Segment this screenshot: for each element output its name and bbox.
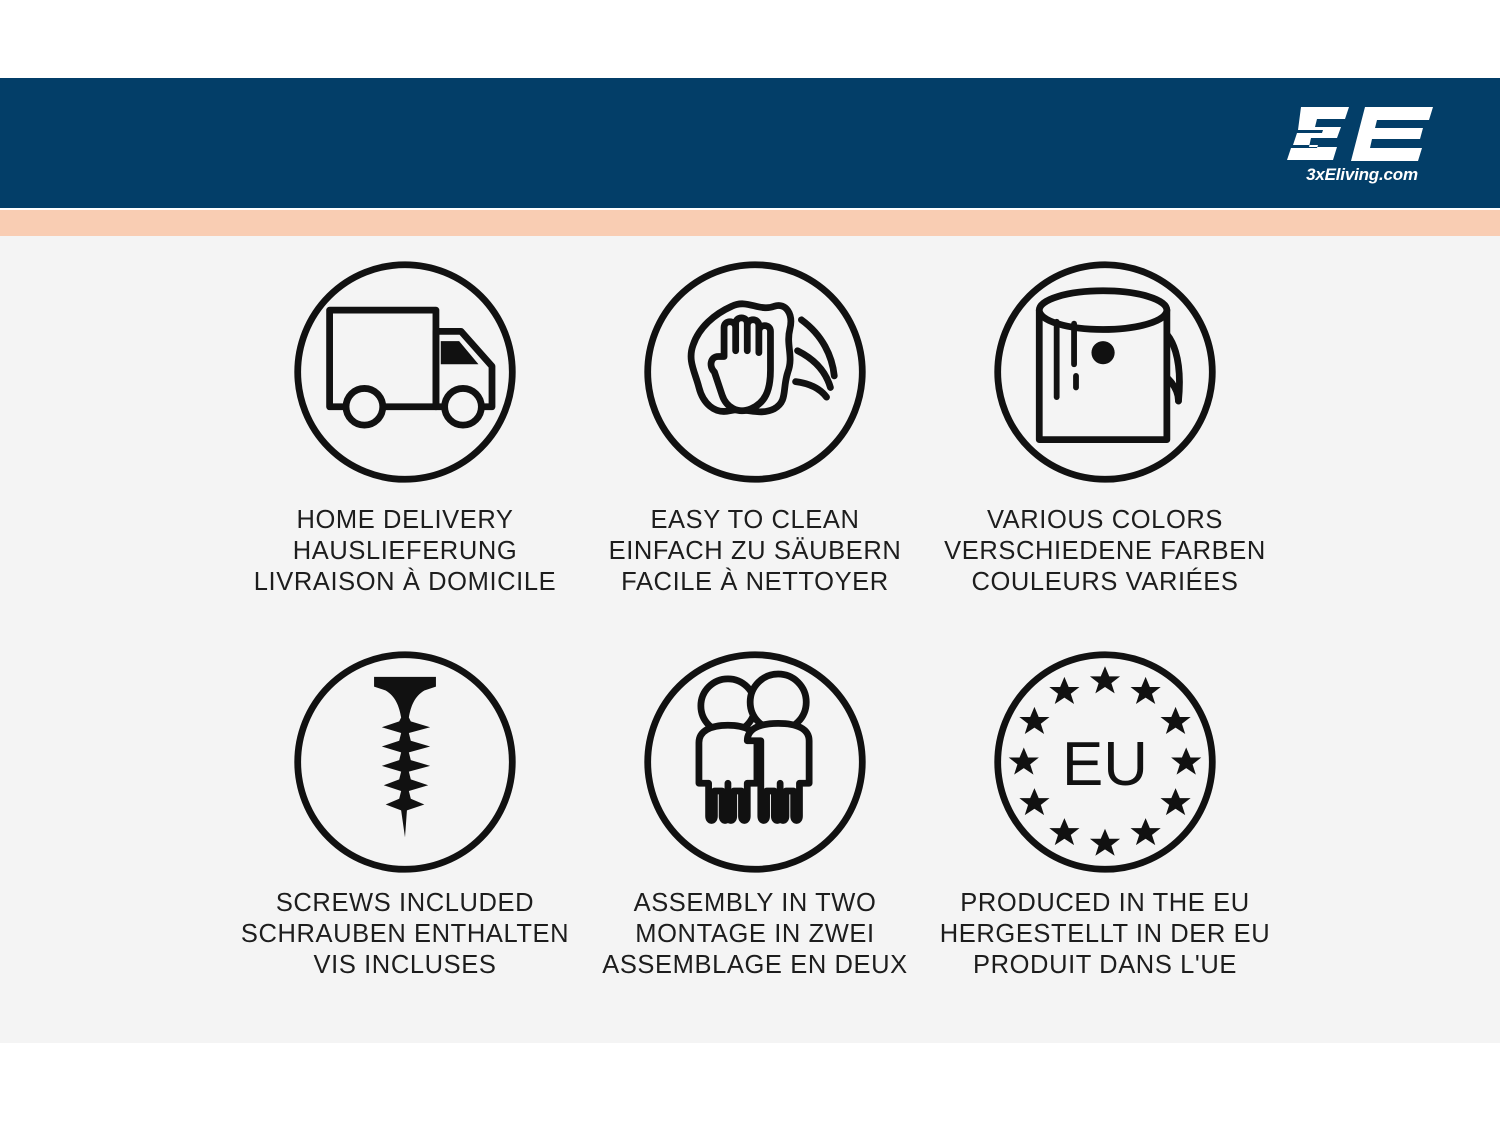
feature-labels: HOME DELIVERY HAUSLIEFERUNG LIVRAISON À … xyxy=(254,505,557,598)
feature-easy-to-clean: EASY TO CLEAN EINFACH ZU SÄUBERN FACILE … xyxy=(580,256,930,646)
feature-labels: SCREWS INCLUDED SCHRAUBEN ENTHALTEN VIS … xyxy=(241,888,569,981)
delivery-truck-icon xyxy=(289,256,521,488)
label-en: HOME DELIVERY xyxy=(254,505,557,536)
feature-home-delivery: HOME DELIVERY HAUSLIEFERUNG LIVRAISON À … xyxy=(230,256,580,646)
feature-grid: HOME DELIVERY HAUSLIEFERUNG LIVRAISON À … xyxy=(230,256,1280,1036)
feature-labels: ASSEMBLY IN TWO MONTAGE IN ZWEI ASSEMBLA… xyxy=(602,888,908,981)
label-fr: FACILE À NETTOYER xyxy=(609,567,902,598)
label-en: EASY TO CLEAN xyxy=(609,505,902,536)
content-area: HOME DELIVERY HAUSLIEFERUNG LIVRAISON À … xyxy=(0,236,1500,1043)
product-feature-banner: 3xEliving.com HOME DELIVERY xyxy=(0,0,1500,1125)
label-de: VERSCHIEDENE FARBEN xyxy=(944,536,1266,567)
label-fr: ASSEMBLAGE EN DEUX xyxy=(602,950,908,981)
eu-center-text: EU xyxy=(1062,730,1148,799)
label-de: SCHRAUBEN ENTHALTEN xyxy=(241,919,569,950)
label-en: SCREWS INCLUDED xyxy=(241,888,569,919)
screw-icon xyxy=(289,646,521,878)
label-de: MONTAGE IN ZWEI xyxy=(602,919,908,950)
label-en: PRODUCED IN THE EU xyxy=(940,888,1270,919)
paint-bucket-icon xyxy=(989,256,1221,488)
feature-screws-included: SCREWS INCLUDED SCHRAUBEN ENTHALTEN VIS … xyxy=(230,646,580,1036)
feature-assembly-in-two: ASSEMBLY IN TWO MONTAGE IN ZWEI ASSEMBLA… xyxy=(580,646,930,1036)
feature-labels: PRODUCED IN THE EU HERGESTELLT IN DER EU… xyxy=(940,888,1270,981)
two-people-icon xyxy=(639,646,871,878)
feature-labels: VARIOUS COLORS VERSCHIEDENE FARBEN COULE… xyxy=(944,505,1266,598)
wiping-hand-cloth-icon xyxy=(639,256,871,488)
eu-stars-icon: EU xyxy=(989,646,1221,878)
label-de: HAUSLIEFERUNG xyxy=(254,536,557,567)
feature-produced-in-eu: EU PRODUCED IN THE EU HERGESTELLT IN DER… xyxy=(930,646,1280,1036)
logo-3e-mark xyxy=(1287,103,1437,165)
label-fr: LIVRAISON À DOMICILE xyxy=(254,567,557,598)
feature-labels: EASY TO CLEAN EINFACH ZU SÄUBERN FACILE … xyxy=(609,505,902,598)
label-de: EINFACH ZU SÄUBERN xyxy=(609,536,902,567)
header-band: 3xEliving.com xyxy=(0,78,1500,208)
brand-logo: 3xEliving.com xyxy=(1272,94,1452,192)
accent-band xyxy=(0,210,1500,236)
feature-various-colors: VARIOUS COLORS VERSCHIEDENE FARBEN COULE… xyxy=(930,256,1280,646)
label-en: ASSEMBLY IN TWO xyxy=(602,888,908,919)
logo-domain-text: 3xEliving.com xyxy=(1306,166,1418,183)
label-fr: COULEURS VARIÉES xyxy=(944,567,1266,598)
label-fr: PRODUIT DANS L'UE xyxy=(940,950,1270,981)
label-en: VARIOUS COLORS xyxy=(944,505,1266,536)
label-fr: VIS INCLUSES xyxy=(241,950,569,981)
label-de: HERGESTELLT IN DER EU xyxy=(940,919,1270,950)
